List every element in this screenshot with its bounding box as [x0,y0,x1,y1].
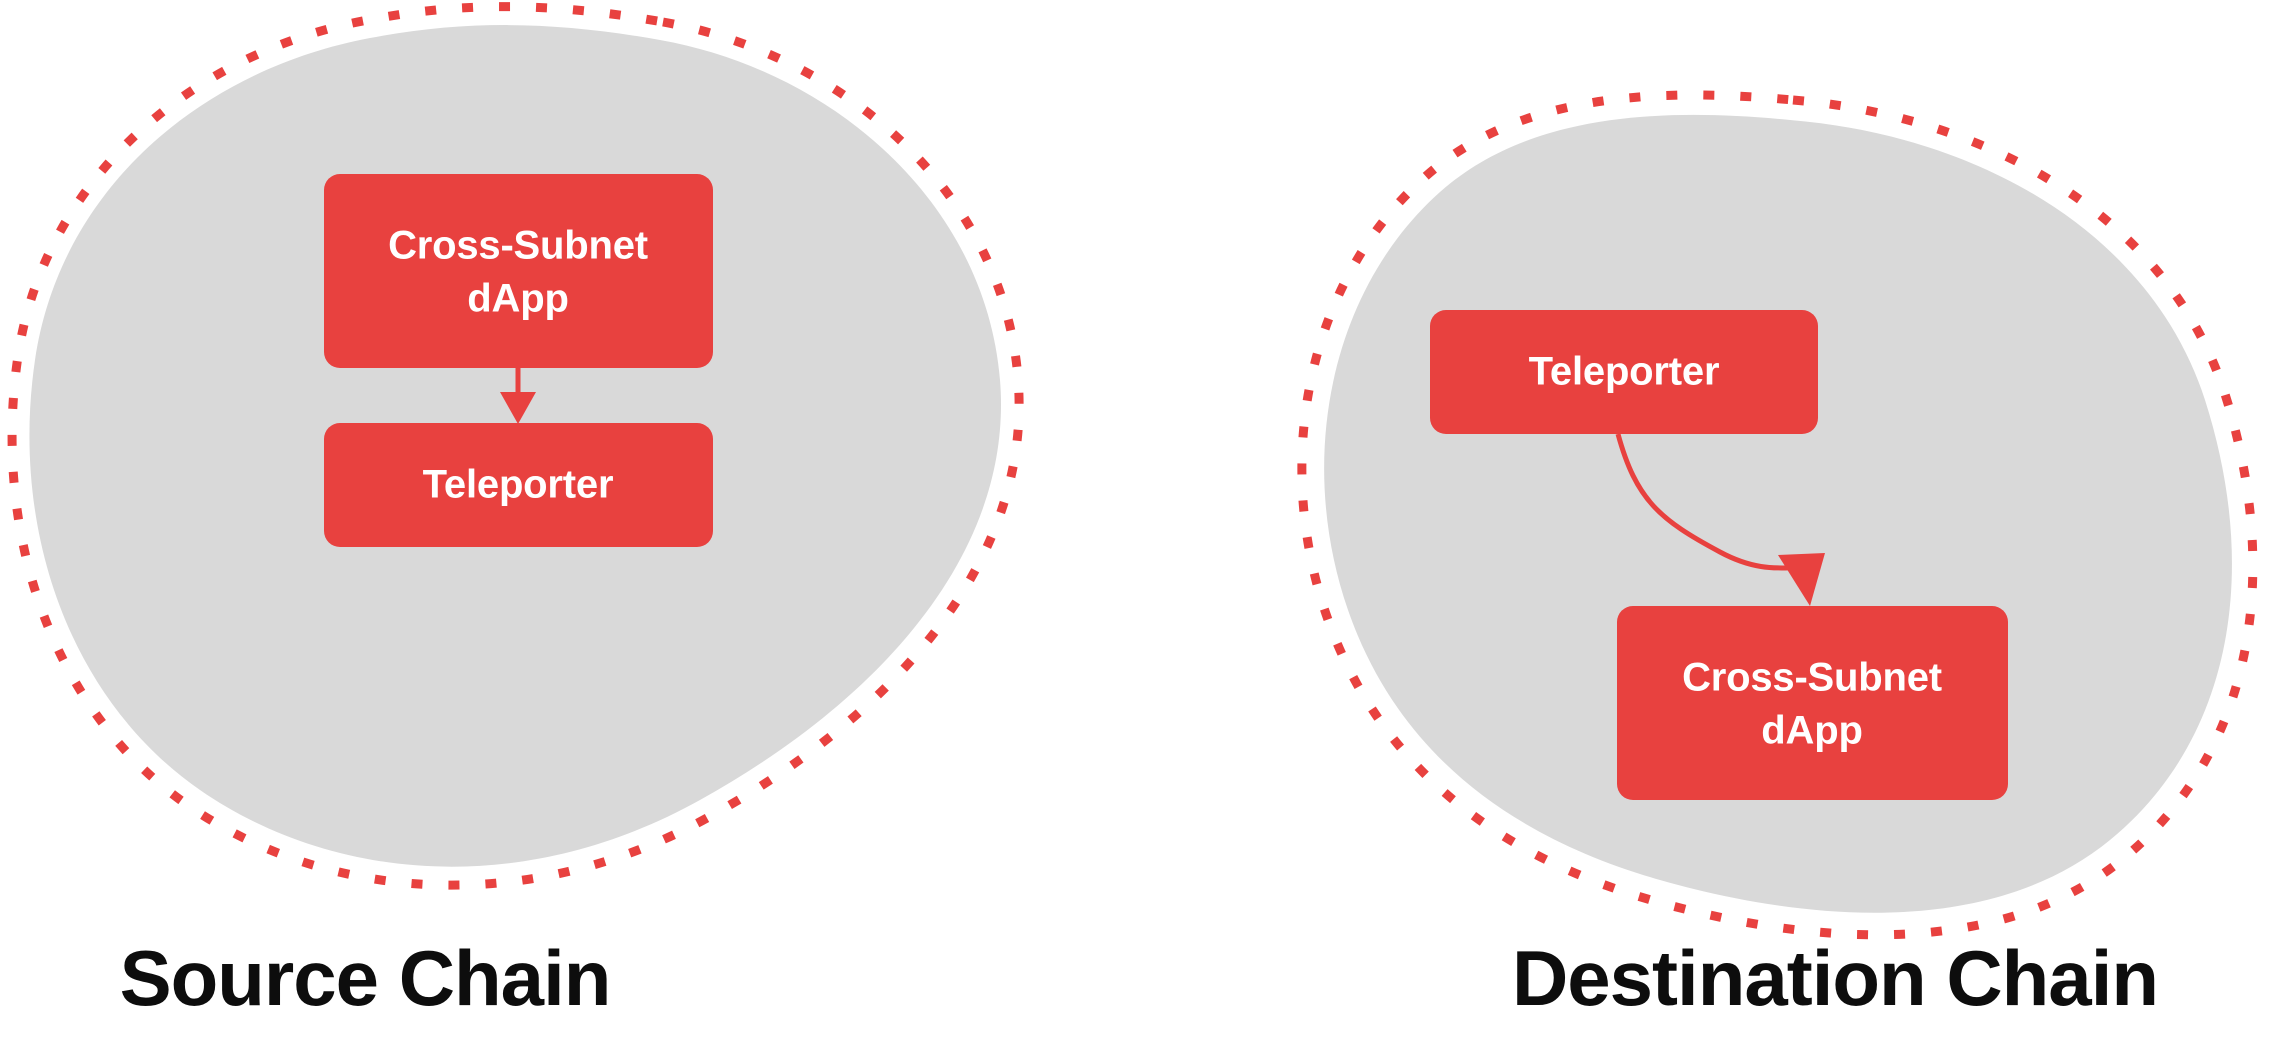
node-destination-teleporter[interactable]: Teleporter [1430,310,1818,434]
node-source-dapp-label-line2: dApp [467,277,568,321]
source-chain-caption: Source Chain [120,934,611,1022]
node-source-teleporter[interactable]: Teleporter [324,423,713,547]
node-destination-teleporter-label: Teleporter [1529,350,1720,394]
node-destination-dapp[interactable]: Cross-Subnet dApp [1617,606,2008,800]
destination-chain-region [1302,95,2253,935]
node-source-teleporter-label: Teleporter [423,463,614,507]
diagram-canvas: Cross-Subnet dApp Teleporter Teleporter [0,0,2292,1054]
node-source-dapp[interactable]: Cross-Subnet dApp [324,174,713,368]
node-source-dapp-box[interactable] [324,174,713,368]
diagram-svg: Cross-Subnet dApp Teleporter Teleporter [0,0,2292,1054]
node-destination-dapp-label-line2: dApp [1761,709,1862,753]
node-destination-dapp-label-line1: Cross-Subnet [1682,656,1942,700]
destination-chain-caption: Destination Chain [1512,934,2158,1022]
node-source-dapp-label-line1: Cross-Subnet [388,224,648,268]
node-destination-dapp-box[interactable] [1617,606,2008,800]
